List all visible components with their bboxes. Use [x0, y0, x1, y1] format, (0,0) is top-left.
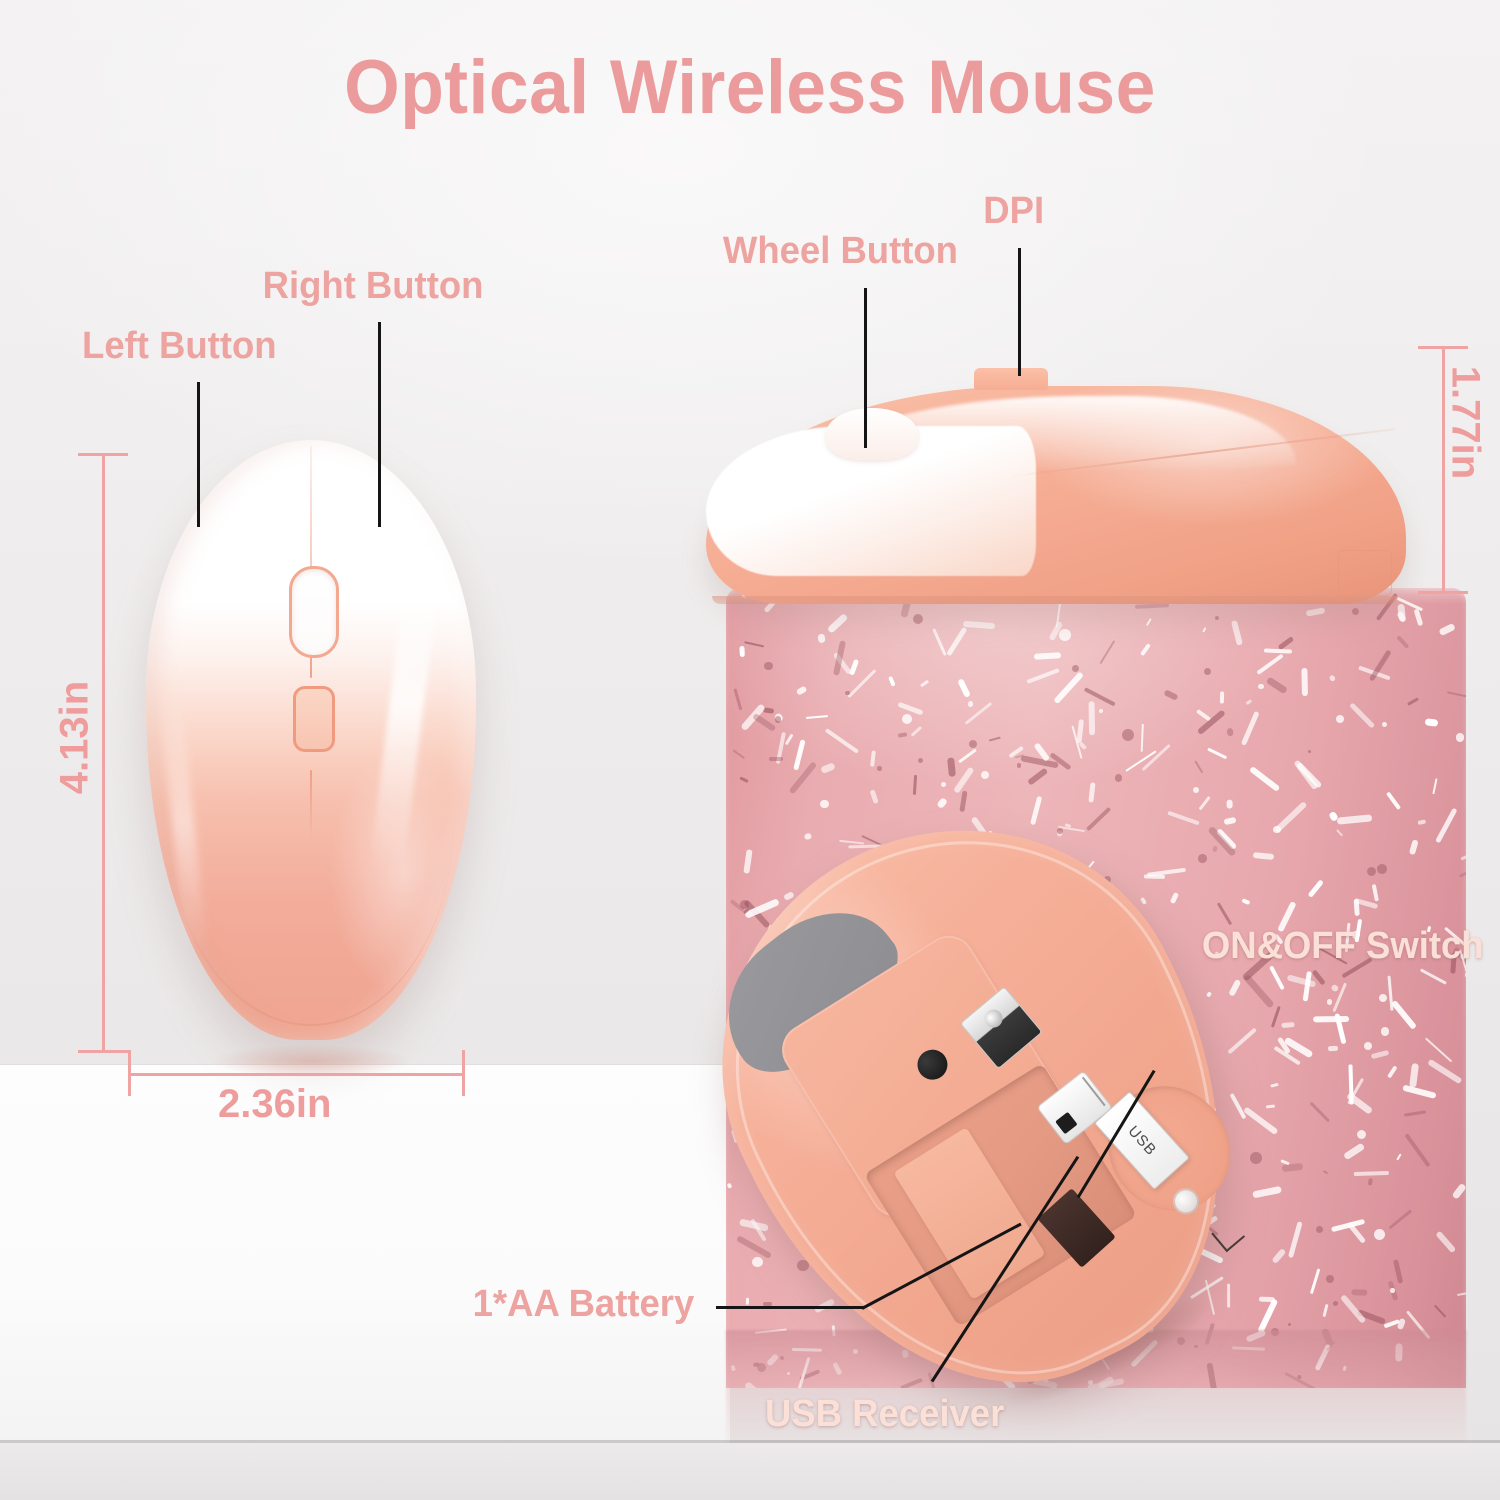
terrazzo-dot: [1273, 826, 1281, 834]
terrazzo-speck: [752, 713, 775, 731]
terrazzo-speck: [1368, 1178, 1373, 1185]
terrazzo-speck: [1391, 1000, 1417, 1030]
scroll-wheel: [289, 566, 339, 658]
terrazzo-dot: [1382, 722, 1387, 727]
terrazzo-speck: [1219, 692, 1223, 704]
leader-right-button: [378, 322, 381, 527]
terrazzo-speck: [1305, 607, 1325, 616]
label-right-button: Right Button: [263, 265, 484, 308]
terrazzo-speck: [1408, 839, 1418, 855]
label-on-off-switch: ON&OFF Switch: [1202, 925, 1484, 968]
label-dpi: DPI: [983, 190, 1044, 233]
terrazzo-speck: [1393, 1259, 1403, 1284]
terrazzo-speck: [870, 751, 875, 767]
terrazzo-speck: [1145, 618, 1151, 626]
terrazzo-speck: [1256, 653, 1283, 674]
terrazzo-speck: [1457, 1290, 1466, 1296]
terrazzo-speck: [1435, 1231, 1456, 1254]
label-wheel-button: Wheel Button: [723, 230, 958, 273]
terrazzo-speck: [1343, 1142, 1365, 1159]
mouse-button-split-line-lower: [310, 770, 312, 842]
dimension-line-height: [102, 455, 105, 1052]
terrazzo-speck: [1387, 1066, 1397, 1079]
terrazzo-speck: [1194, 761, 1203, 774]
mouse-side-port-detail: [1338, 550, 1392, 596]
dimension-line-width: [128, 1073, 464, 1076]
scroll-wheel-side: [826, 408, 918, 460]
label-left-button: Left Button: [82, 325, 277, 368]
leader-dpi: [1018, 248, 1021, 376]
terrazzo-dot: [1193, 787, 1199, 793]
terrazzo-speck: [746, 1298, 749, 1305]
mouse-side-base-edge: [712, 596, 1398, 604]
terrazzo-speck: [989, 737, 1001, 742]
terrazzo-dot: [1215, 616, 1219, 620]
terrazzo-speck: [1270, 965, 1286, 990]
terrazzo-speck: [1264, 648, 1292, 653]
terrazzo-dot: [1072, 665, 1079, 672]
terrazzo-speck: [912, 774, 917, 795]
terrazzo-speck: [1447, 691, 1466, 699]
dpi-button-side: [974, 368, 1048, 390]
terrazzo-speck: [869, 789, 878, 804]
terrazzo-speck: [1432, 778, 1438, 794]
terrazzo-speck: [744, 641, 764, 648]
terrazzo-speck: [1227, 800, 1233, 809]
terrazzo-speck: [1404, 1110, 1426, 1116]
terrazzo-dot: [1122, 729, 1134, 741]
terrazzo-speck: [818, 634, 826, 644]
terrazzo-speck: [1386, 792, 1401, 811]
orientation-mark-icon: [1211, 1218, 1245, 1252]
terrazzo-speck: [1395, 1154, 1401, 1162]
terrazzo-speck: [1135, 604, 1169, 610]
terrazzo-speck: [1226, 727, 1234, 736]
terrazzo-speck: [1245, 700, 1251, 706]
terrazzo-speck: [1409, 1063, 1419, 1088]
terrazzo-speck: [897, 733, 906, 738]
terrazzo-speck: [1224, 816, 1237, 824]
dimension-cap-depth-bottom: [1418, 591, 1468, 594]
terrazzo-speck: [1199, 796, 1211, 810]
mouse-top-seam: [169, 824, 453, 1026]
label-usb-receiver: USB Receiver: [765, 1393, 1004, 1436]
terrazzo-speck: [1388, 1209, 1412, 1229]
terrazzo-speck: [1278, 636, 1294, 649]
floor-strip: [0, 1443, 1500, 1500]
terrazzo-speck: [1213, 846, 1218, 853]
terrazzo-speck: [1327, 1046, 1337, 1051]
terrazzo-speck: [1407, 697, 1419, 706]
terrazzo-speck: [805, 715, 827, 719]
terrazzo-speck: [1100, 640, 1116, 664]
terrazzo-speck: [1451, 1183, 1466, 1199]
terrazzo-speck: [1339, 1294, 1366, 1324]
terrazzo-speck: [744, 850, 753, 875]
terrazzo-speck: [1307, 879, 1323, 897]
leader-battery-horizontal: [716, 1306, 864, 1309]
terrazzo-speck: [1302, 668, 1308, 696]
terrazzo-speck: [1140, 724, 1143, 752]
page-title: Optical Wireless Mouse: [45, 44, 1455, 131]
terrazzo-dot: [1381, 1027, 1390, 1036]
terrazzo-speck: [1313, 1016, 1349, 1023]
terrazzo-dot: [968, 701, 974, 707]
terrazzo-dot: [1364, 1042, 1372, 1050]
terrazzo-speck: [1207, 747, 1227, 759]
terrazzo-speck: [1387, 976, 1393, 1011]
terrazzo-speck: [1405, 1133, 1431, 1167]
dimension-label-depth: 1.77in: [1443, 343, 1488, 503]
white-ledge-surface: [0, 1065, 730, 1445]
terrazzo-dot: [1367, 867, 1376, 876]
terrazzo-speck: [1372, 884, 1379, 901]
terrazzo-speck: [1435, 807, 1458, 843]
terrazzo-speck: [1461, 846, 1466, 860]
terrazzo-speck: [1420, 969, 1447, 985]
dpi-button: [293, 686, 335, 752]
terrazzo-speck: [1026, 668, 1059, 683]
terrazzo-dot: [1379, 994, 1388, 1003]
terrazzo-speck: [827, 613, 848, 633]
terrazzo-speck: [1414, 609, 1424, 627]
terrazzo-dot: [1374, 1229, 1385, 1240]
terrazzo-speck: [963, 620, 996, 629]
terrazzo-dot: [845, 691, 849, 695]
terrazzo-speck: [1331, 984, 1340, 993]
terrazzo-speck: [1353, 1171, 1388, 1176]
terrazzo-speck: [797, 686, 808, 696]
terrazzo-dot: [775, 716, 782, 723]
terrazzo-dot: [1456, 733, 1465, 742]
terrazzo-speck: [1417, 819, 1426, 825]
terrazzo-speck: [740, 647, 746, 658]
terrazzo-dot: [1204, 668, 1211, 675]
terrazzo-speck: [733, 749, 746, 759]
terrazzo-speck: [1402, 1085, 1437, 1099]
terrazzo-speck: [804, 832, 812, 839]
terrazzo-speck: [1217, 902, 1232, 925]
leader-wheel-button: [864, 288, 867, 448]
terrazzo-speck: [947, 757, 956, 777]
terrazzo-speck: [1164, 689, 1179, 701]
terrazzo-dot: [1357, 1130, 1367, 1140]
terrazzo-speck: [1329, 674, 1337, 682]
terrazzo-speck: [1424, 1037, 1452, 1062]
terrazzo-dot: [918, 758, 923, 763]
mouse-side-view: [706, 352, 1406, 604]
terrazzo-speck: [740, 776, 749, 783]
terrazzo-dot: [877, 766, 882, 771]
terrazzo-dot: [1059, 629, 1071, 641]
leader-left-button: [197, 382, 200, 527]
dimension-label-width: 2.36in: [218, 1082, 331, 1127]
terrazzo-dot: [1326, 1275, 1334, 1283]
floor-edge-line: [0, 1440, 1500, 1443]
terrazzo-dot: [969, 740, 977, 748]
terrazzo-speck: [1310, 1268, 1320, 1293]
terrazzo-speck: [1271, 1006, 1281, 1027]
terrazzo-dot: [902, 714, 913, 725]
terrazzo-speck: [734, 688, 743, 710]
terrazzo-speck: [958, 748, 977, 763]
label-aa-battery: 1*AA Battery: [473, 1283, 695, 1326]
terrazzo-speck: [1428, 1059, 1463, 1084]
terrazzo-speck: [1438, 622, 1455, 635]
dimension-cap-height-bottom: [78, 1050, 128, 1053]
terrazzo-speck: [1323, 1304, 1329, 1317]
terrazzo-speck: [848, 659, 858, 675]
terrazzo-dot: [1288, 1323, 1291, 1326]
terrazzo-speck: [1266, 676, 1288, 694]
terrazzo-dot: [913, 614, 924, 625]
mouse-top-view: [146, 440, 476, 1040]
terrazzo-speck: [793, 739, 806, 770]
product-infographic: USB Optical Wireless Mouse Left Button R…: [0, 0, 1500, 1500]
terrazzo-speck: [1242, 898, 1251, 904]
terrazzo-speck: [1053, 672, 1083, 704]
terrazzo-speck: [1282, 1022, 1295, 1027]
terrazzo-speck: [1230, 620, 1242, 646]
terrazzo-speck: [1252, 852, 1273, 860]
terrazzo-dot: [941, 782, 946, 787]
terrazzo-speck: [1397, 603, 1406, 621]
usb-dongle-label: USB: [1124, 1122, 1159, 1159]
terrazzo-speck: [825, 728, 859, 754]
terrazzo-speck: [821, 763, 836, 774]
dimension-cap-width-left: [128, 1050, 131, 1096]
terrazzo-speck: [1034, 653, 1061, 660]
terrazzo-dot: [820, 800, 829, 809]
terrazzo-speck: [1140, 643, 1151, 656]
terrazzo-speck: [1349, 1065, 1354, 1105]
terrazzo-dot: [1352, 608, 1359, 615]
terrazzo-dot: [1327, 999, 1333, 1005]
mouse-top-shadow: [172, 1038, 449, 1084]
terrazzo-speck: [888, 676, 896, 687]
terrazzo-dot: [1336, 715, 1344, 723]
dimension-cap-width-right: [462, 1050, 465, 1096]
terrazzo-speck: [1167, 811, 1199, 826]
terrazzo-speck: [1433, 1305, 1445, 1318]
terrazzo-dot: [764, 662, 772, 670]
terrazzo-speck: [1336, 815, 1372, 825]
terrazzo-speck: [932, 628, 946, 655]
terrazzo-dot: [1390, 1288, 1395, 1293]
terrazzo-speck: [1336, 830, 1343, 837]
dimension-label-height: 4.13in: [53, 658, 98, 818]
terrazzo-speck: [1396, 635, 1409, 649]
terrazzo-speck: [911, 726, 922, 737]
terrazzo-speck: [920, 679, 929, 686]
terrazzo-speck: [1310, 1102, 1330, 1122]
terrazzo-speck: [1287, 974, 1316, 987]
terrazzo-speck: [1371, 1050, 1390, 1059]
terrazzo-dot: [1308, 750, 1311, 753]
terrazzo-dot: [1198, 854, 1207, 863]
terrazzo-speck: [1425, 718, 1439, 727]
terrazzo-dot: [1258, 684, 1263, 689]
terrazzo-speck: [946, 627, 968, 657]
terrazzo-speck: [1459, 861, 1466, 877]
terrazzo-speck: [898, 702, 924, 716]
terrazzo-speck: [784, 734, 793, 746]
terrazzo-speck: [769, 757, 783, 761]
terrazzo-speck: [1349, 703, 1375, 730]
terrazzo-dot: [1377, 864, 1387, 874]
terrazzo-speck: [1249, 766, 1281, 792]
terrazzo-speck: [1241, 711, 1260, 746]
dimension-cap-height-top: [78, 453, 128, 456]
terrazzo-speck: [1351, 1289, 1368, 1296]
terrazzo-speck: [957, 678, 971, 698]
terrazzo-dot: [1333, 1301, 1338, 1306]
terrazzo-speck: [1202, 628, 1206, 633]
